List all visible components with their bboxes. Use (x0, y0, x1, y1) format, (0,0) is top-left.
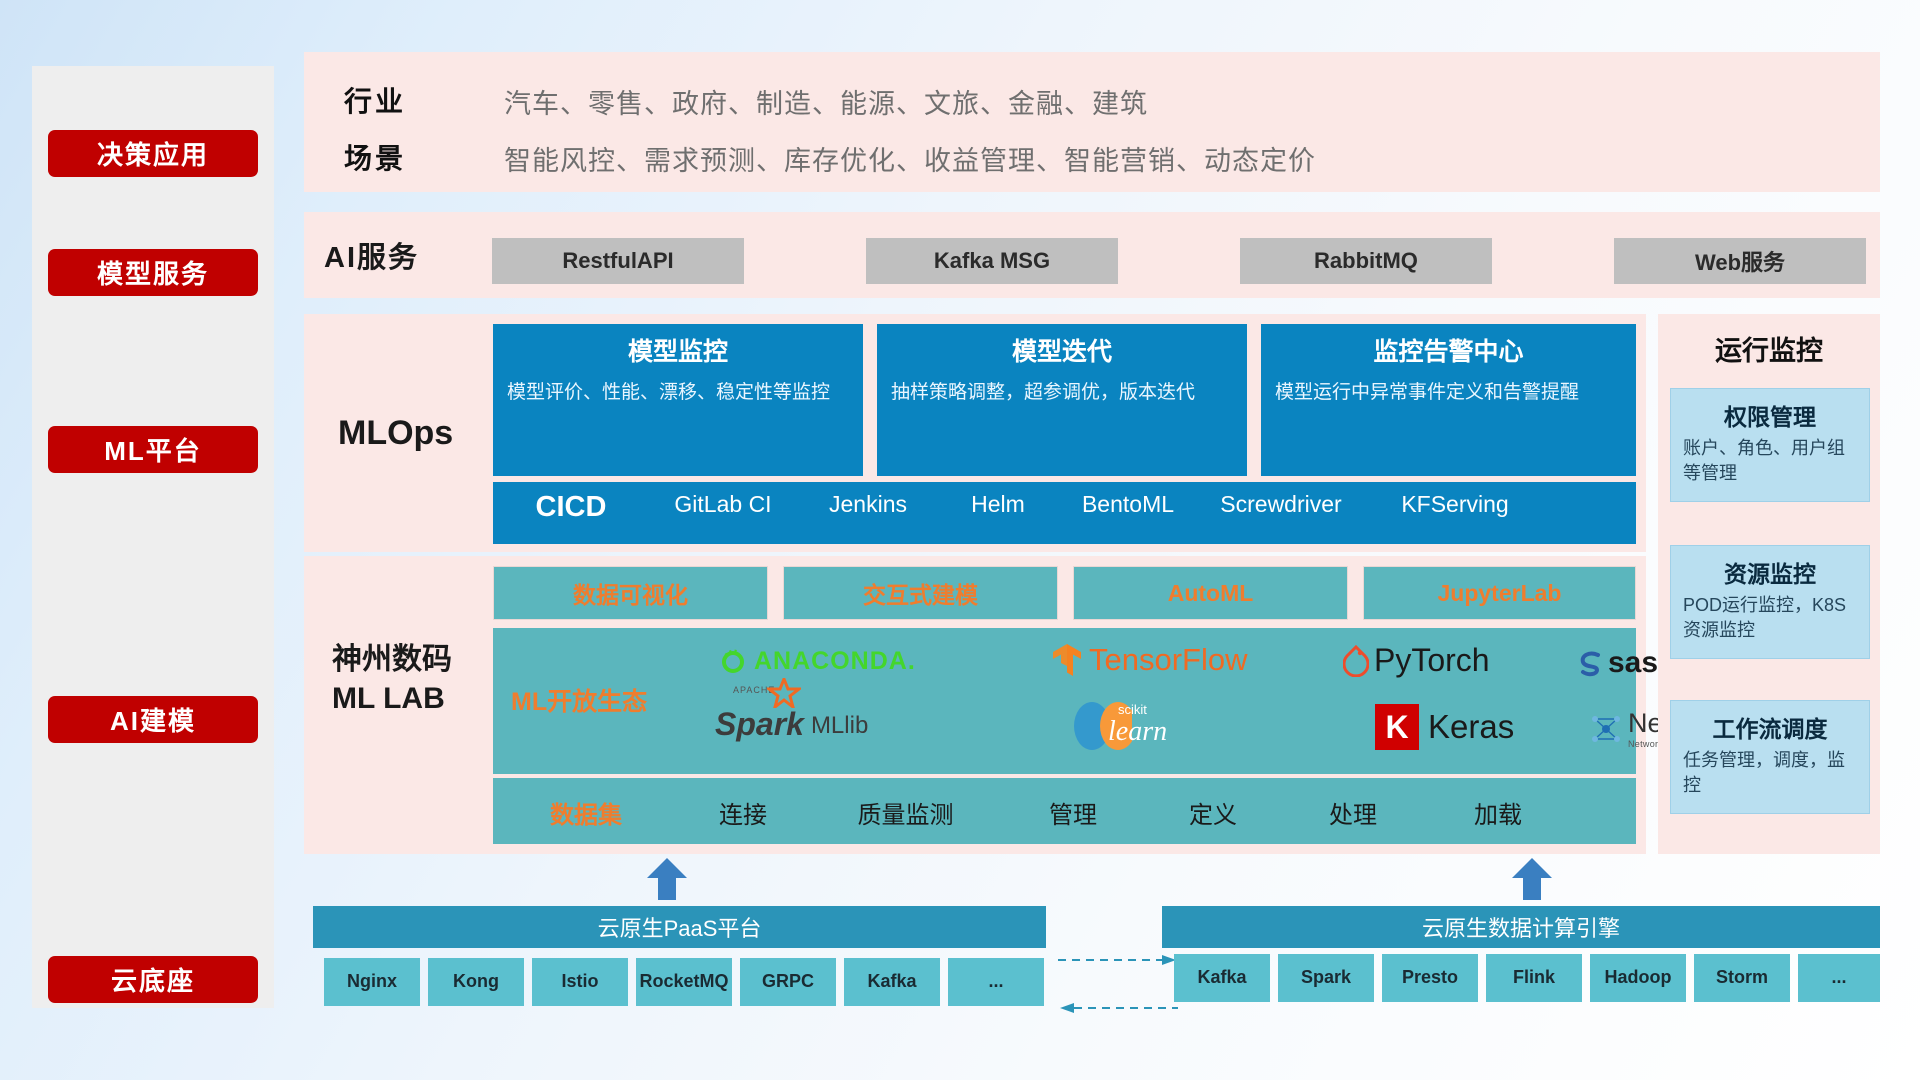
spark-star-icon (767, 678, 801, 708)
stage-pill-ml-platform[interactable]: ML平台 (48, 426, 258, 473)
cicd-item-gitlab-ci[interactable]: GitLab CI (643, 491, 803, 517)
dataset-item-quality[interactable]: 质量监测 (823, 795, 988, 830)
monitoring-card-desc: 账户、角色、用户组等管理 (1671, 436, 1869, 496)
ops-card-desc: 模型评价、性能、漂移、稳定性等监控 (507, 379, 849, 407)
keras-mark-letter: K (1385, 709, 1408, 746)
anaconda-icon (718, 646, 748, 676)
monitoring-title: 运行监控 (1658, 320, 1880, 376)
dataset-item-process[interactable]: 处理 (1293, 795, 1413, 830)
ops-card-title: 模型监控 (507, 336, 849, 369)
monitoring-card-desc: POD运行监控，K8S资源监控 (1671, 593, 1869, 653)
dataset-item-load[interactable]: 加载 (1438, 795, 1558, 830)
cloud-data-engine-bar-label: 云原生数据计算引擎 (1422, 911, 1620, 943)
cicd-item-bentoml[interactable]: BentoML (1073, 491, 1183, 517)
tensorflow-wordmark: TensorFlow (1089, 642, 1248, 678)
anaconda-logo: ANACONDA. (718, 646, 916, 676)
scenario-value: 智能风控、需求预测、库存优化、收益管理、智能营销、动态定价 (504, 139, 1316, 178)
chip-label: Kafka (1197, 968, 1246, 988)
ops-card-title: 模型迭代 (891, 336, 1233, 369)
keras-logo: K Keras (1375, 704, 1514, 750)
sas-wordmark: sas (1608, 646, 1658, 680)
cloud-chip-storm[interactable]: Storm (1694, 954, 1790, 1002)
monitoring-card-permissions[interactable]: 权限管理 账户、角色、用户组等管理 (1670, 388, 1870, 502)
ai-chip-kafka-msg[interactable]: Kafka MSG (866, 238, 1118, 284)
pytorch-logo: PyTorch (1343, 642, 1490, 679)
cloud-chip-flink[interactable]: Flink (1486, 954, 1582, 1002)
cloud-chip-kong[interactable]: Kong (428, 958, 524, 1006)
cloud-chip-grpc[interactable]: GRPC (740, 958, 836, 1006)
chip-label: Nginx (347, 972, 397, 992)
arrow-up-data-engine-icon (1510, 858, 1554, 900)
chip-label: RestfulAPI (562, 248, 673, 274)
lab-chip-jupyterlab[interactable]: JupyterLab (1363, 566, 1636, 620)
ml-ecosystem-label: ML开放生态 (511, 682, 647, 718)
scenario-key: 场景 (344, 137, 406, 177)
cloud-chip-kafka-right[interactable]: Kafka (1174, 954, 1270, 1002)
stage-label: 决策应用 (97, 135, 209, 172)
cloud-data-engine-bar[interactable]: 云原生数据计算引擎 (1162, 906, 1880, 948)
pytorch-wordmark: PyTorch (1374, 642, 1490, 679)
monitoring-card-title: 权限管理 (1671, 389, 1869, 436)
spark-mllib-logo: APACHE Spark MLlib (715, 706, 868, 743)
chip-label: Kong (453, 972, 499, 992)
cicd-item-screwdriver[interactable]: Screwdriver (1211, 491, 1351, 517)
stage-pill-cloud-base[interactable]: 云底座 (48, 956, 258, 1003)
monitoring-card-title: 资源监控 (1671, 546, 1869, 593)
industry-band: 行业 汽车、零售、政府、制造、能源、文旅、金融、建筑 场景 智能风控、需求预测、… (304, 52, 1880, 192)
chip-label: RabbitMQ (1314, 248, 1418, 274)
mllab-label-line1: 神州数码 (332, 640, 498, 679)
ops-card-model-iteration[interactable]: 模型迭代 抽样策略调整，超参调优，版本迭代 (877, 324, 1247, 476)
arrow-left-dashed-icon (1058, 1000, 1178, 1016)
pytorch-icon (1343, 645, 1369, 677)
ops-card-title: 监控告警中心 (1275, 336, 1622, 369)
mllab-label-line2: ML LAB (332, 679, 498, 718)
cicd-bar: CICD GitLab CI Jenkins Helm BentoML Scre… (493, 482, 1636, 544)
dataset-item-connect[interactable]: 连接 (683, 795, 803, 830)
chip-label: Kafka (867, 972, 916, 992)
chip-label: Storm (1716, 968, 1768, 988)
chip-label: Web服务 (1695, 245, 1785, 277)
cloud-paas-bar[interactable]: 云原生PaaS平台 (313, 906, 1046, 948)
cloud-chip-nginx[interactable]: Nginx (324, 958, 420, 1006)
tensorflow-icon (1051, 642, 1083, 678)
chip-label: Flink (1513, 968, 1555, 988)
stage-label: 模型服务 (97, 254, 209, 291)
keras-wordmark: Keras (1428, 708, 1514, 746)
cicd-item-jenkins[interactable]: Jenkins (813, 491, 923, 517)
stage-pill-model-service[interactable]: 模型服务 (48, 249, 258, 296)
chip-label: ... (1831, 968, 1846, 988)
chip-label: Kafka MSG (934, 248, 1050, 274)
chip-label: GRPC (762, 972, 814, 992)
stage-label: ML平台 (104, 431, 202, 468)
cicd-item-helm[interactable]: Helm (943, 491, 1053, 517)
chip-label: Presto (1402, 968, 1458, 988)
dataset-title: 数据集 (511, 795, 661, 830)
ml-ecosystem-box: ML开放生态 ANACONDA. TensorFlow PyTorch (493, 628, 1636, 774)
monitoring-card-title: 工作流调度 (1671, 701, 1869, 748)
architecture-diagram: 决策应用 模型服务 ML平台 AI建模 云底座 行业 汽车、零售、政府、制造、能… (0, 0, 1920, 1080)
lab-chip-automl[interactable]: AutoML (1073, 566, 1348, 620)
chip-label: Spark (1301, 968, 1351, 988)
spark-wordmark: Spark (715, 706, 804, 742)
monitoring-card-resources[interactable]: 资源监控 POD运行监控，K8S资源监控 (1670, 545, 1870, 659)
networkx-icon (1589, 712, 1623, 746)
chip-label: JupyterLab (1438, 580, 1562, 607)
cloud-chip-presto[interactable]: Presto (1382, 954, 1478, 1002)
industry-key: 行业 (344, 80, 406, 120)
cloud-paas-bar-label: 云原生PaaS平台 (598, 911, 762, 943)
ai-chip-restfulapi[interactable]: RestfulAPI (492, 238, 744, 284)
tensorflow-logo: TensorFlow (1051, 642, 1248, 678)
chip-label: Istio (561, 972, 598, 992)
cicd-item-kfserving[interactable]: KFServing (1385, 491, 1525, 517)
ops-card-desc: 抽样策略调整，超参调优，版本迭代 (891, 379, 1233, 407)
anaconda-wordmark: ANACONDA. (754, 647, 916, 676)
sas-logo: sas (1575, 646, 1658, 680)
chip-label: AutoML (1168, 580, 1254, 607)
stage-label: 云底座 (111, 961, 195, 998)
stage-pill-ai-modeling[interactable]: AI建模 (48, 696, 258, 743)
ai-chip-rabbitmq[interactable]: RabbitMQ (1240, 238, 1492, 284)
ops-card-model-monitor[interactable]: 模型监控 模型评价、性能、漂移、稳定性等监控 (493, 324, 863, 476)
cloud-chip-more-left[interactable]: ... (948, 958, 1044, 1006)
lab-chip-data-visualization[interactable]: 数据可视化 (493, 566, 768, 620)
chip-label: 交互式建模 (863, 576, 978, 610)
scikit-text: scikit (1118, 702, 1147, 717)
cloud-chip-rocketmq[interactable]: RocketMQ (636, 958, 732, 1006)
stage-label: AI建模 (110, 701, 196, 738)
chip-label: 数据可视化 (573, 576, 688, 610)
ai-chip-web-service[interactable]: Web服务 (1614, 238, 1866, 284)
dataset-item-define[interactable]: 定义 (1153, 795, 1273, 830)
arrow-up-paas-icon (645, 858, 689, 900)
monitoring-card-workflow[interactable]: 工作流调度 任务管理，调度，监控 (1670, 700, 1870, 814)
chip-label: ... (988, 972, 1003, 992)
cloud-chip-hadoop[interactable]: Hadoop (1590, 954, 1686, 1002)
ai-service-label: AI服务 (324, 212, 419, 298)
ops-card-desc: 模型运行中异常事件定义和告警提醒 (1275, 379, 1622, 407)
dataset-item-manage[interactable]: 管理 (1013, 795, 1133, 830)
cloud-chip-more-right[interactable]: ... (1798, 954, 1880, 1002)
stage-pill-decision[interactable]: 决策应用 (48, 130, 258, 177)
stage-rail: 决策应用 模型服务 ML平台 AI建模 云底座 (32, 66, 274, 1008)
dataset-row: 数据集 连接 质量监测 管理 定义 处理 加载 (493, 778, 1636, 844)
ops-card-alert-center[interactable]: 监控告警中心 模型运行中异常事件定义和告警提醒 (1261, 324, 1636, 476)
keras-mark-icon: K (1375, 704, 1419, 750)
lab-chip-interactive-modeling[interactable]: 交互式建模 (783, 566, 1058, 620)
cicd-title: CICD (511, 491, 631, 524)
chip-label: Hadoop (1605, 968, 1672, 988)
cloud-chip-istio[interactable]: Istio (532, 958, 628, 1006)
cloud-chip-kafka[interactable]: Kafka (844, 958, 940, 1006)
monitoring-card-desc: 任务管理，调度，监控 (1671, 748, 1869, 808)
cloud-chip-spark[interactable]: Spark (1278, 954, 1374, 1002)
learn-text: learn (1108, 716, 1167, 748)
mllib-wordmark: MLlib (811, 712, 868, 743)
sas-icon (1575, 648, 1605, 678)
mllab-label: 神州数码 ML LAB (318, 640, 498, 718)
industry-value: 汽车、零售、政府、制造、能源、文旅、金融、建筑 (504, 82, 1148, 121)
mlops-label: MLOps (324, 314, 494, 552)
chip-label: RocketMQ (639, 972, 728, 992)
arrow-right-dashed-icon (1058, 952, 1178, 968)
